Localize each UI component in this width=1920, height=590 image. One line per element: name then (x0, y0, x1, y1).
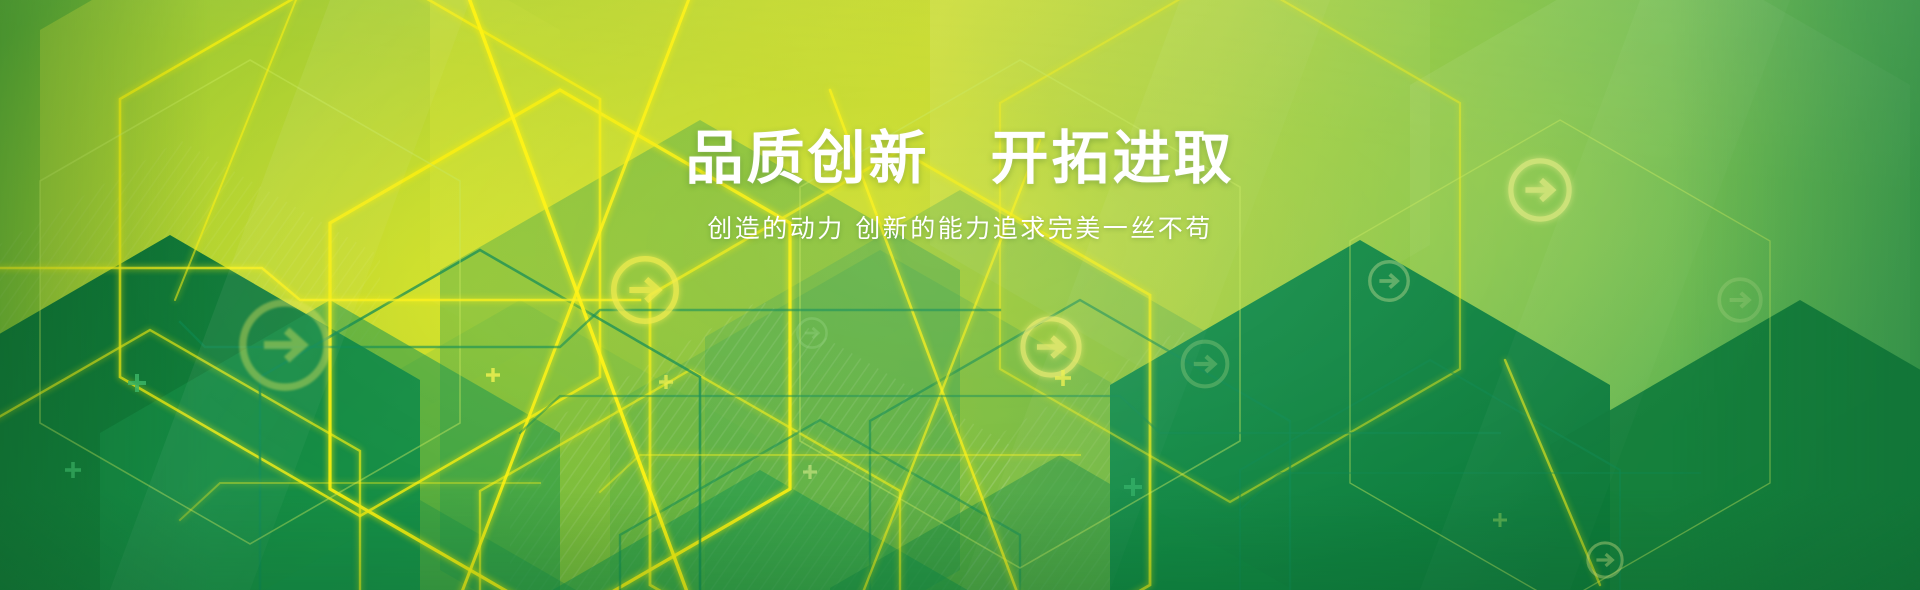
background-hexagon-art (0, 0, 1920, 590)
hex-dark-green-group (0, 235, 1920, 590)
hex-yellow-outline-group (0, 0, 1460, 590)
banner-subheadline: 创造的动力 创新的能力追求完美一丝不苟 (0, 213, 1920, 246)
sheen-overlay (0, 0, 1920, 590)
arrow-circle-right-icon (1588, 543, 1622, 577)
arrow-circle-right-icon (1023, 319, 1079, 375)
banner-copy: 品质创新 开拓进取 创造的动力 创新的能力追求完美一丝不苟 (0, 126, 1920, 245)
plus-mark-icon (486, 368, 500, 382)
arrow-circle-right-icon (1719, 279, 1761, 321)
plus-mark-icon (659, 375, 673, 389)
hero-banner: 品质创新 开拓进取 创造的动力 创新的能力追求完美一丝不苟 (0, 0, 1920, 590)
arrow-circle-right-icon (243, 303, 327, 387)
plus-mark-icon (128, 374, 146, 392)
edge-shade-overlay (0, 0, 1920, 590)
hex-teal-outline-group (260, 250, 1620, 590)
yellow-ray-group (175, 0, 1600, 590)
plus-mark-icon (1124, 478, 1142, 496)
arrow-circle-icon-layer (0, 0, 1920, 590)
sheen-stripe-group (110, 0, 1790, 590)
plus-mark-icon (803, 465, 817, 479)
arrow-circle-right-icon (614, 259, 676, 321)
arrow-circle-right-icon (1370, 262, 1408, 300)
arrow-circle-right-icon (797, 318, 826, 347)
plus-mark-icon (1055, 370, 1071, 386)
plus-mark-layer (0, 0, 1920, 590)
hex-translucent-group (40, 0, 1910, 520)
plus-mark-icon (1493, 513, 1507, 527)
banner-headline: 品质创新 开拓进取 (0, 126, 1920, 191)
tech-line-group (0, 268, 1700, 520)
plus-mark-icon (65, 462, 81, 478)
arrow-circle-right-icon (1183, 342, 1228, 387)
